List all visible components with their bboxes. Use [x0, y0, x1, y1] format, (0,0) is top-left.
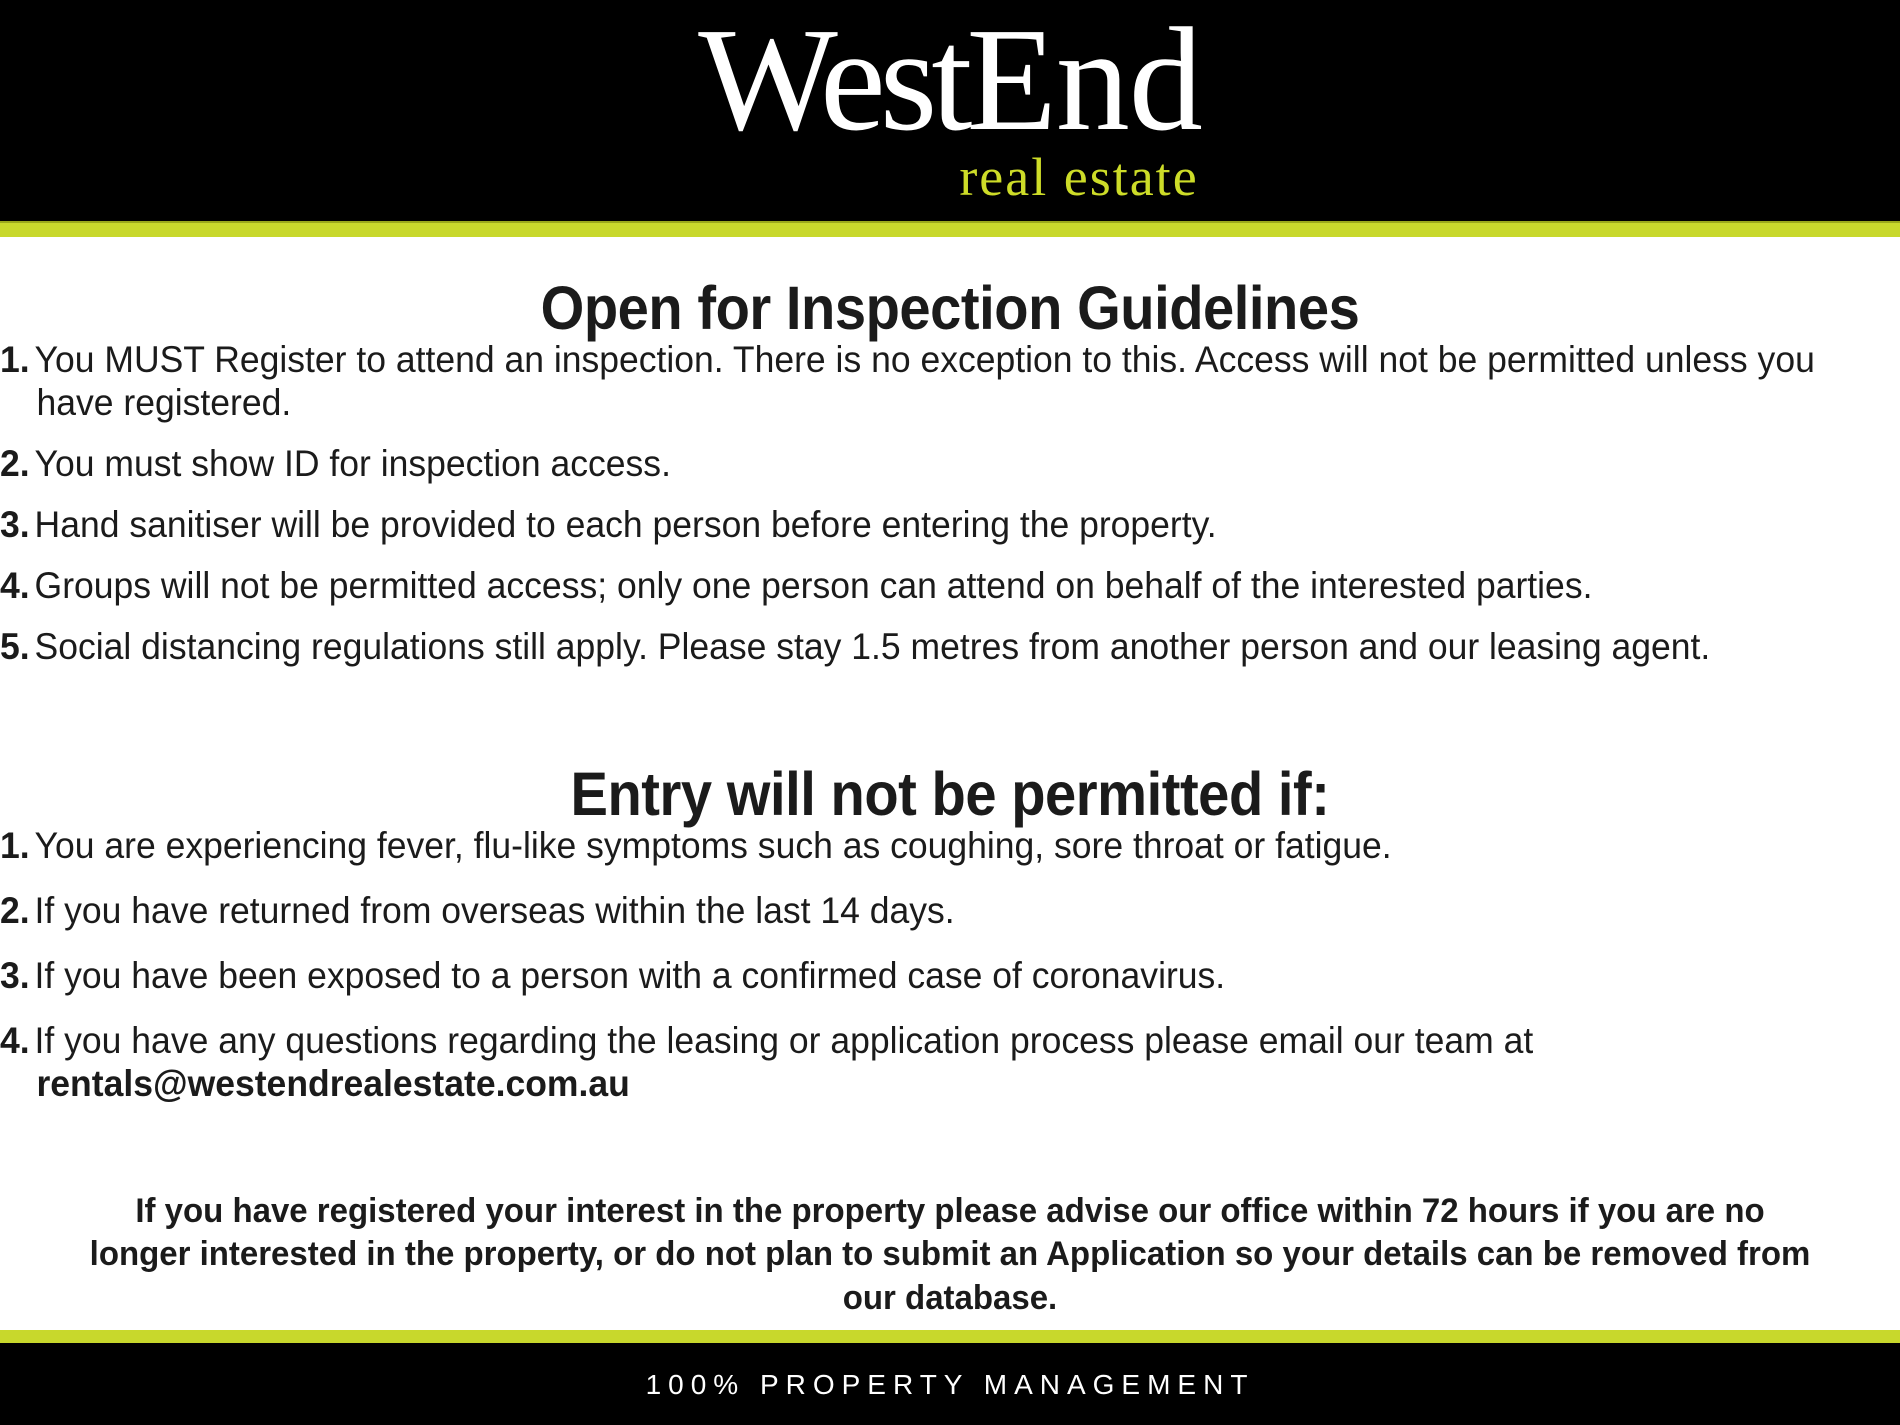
list-item: 3.Hand sanitiser will be provided to eac…: [0, 504, 1824, 547]
list-item-text: Social distancing regulations still appl…: [35, 626, 1711, 667]
list-item: 1.You MUST Register to attend an inspect…: [0, 339, 1824, 425]
logo-wordmark: WestEnd: [0, 6, 1900, 154]
list-item-number: 4.: [0, 565, 27, 608]
list-item: 3.If you have been exposed to a person w…: [0, 955, 1824, 998]
list-item: 1.You are experiencing fever, flu-like s…: [0, 825, 1824, 868]
list-item-number: 5.: [0, 626, 27, 669]
list-item: 4.If you have any questions regarding th…: [0, 1020, 1824, 1106]
list-item-number: 3.: [0, 955, 27, 998]
contact-email[interactable]: rentals@westendrealestate.com.au: [36, 1063, 629, 1104]
list-item-text: You MUST Register to attend an inspectio…: [35, 339, 1815, 423]
logo-word-end: End: [966, 0, 1201, 162]
list-item-number: 1.: [0, 339, 27, 382]
logo-tagline: real estate: [0, 150, 1900, 204]
poster-page: WestEnd real estate Open for Inspection …: [0, 0, 1900, 1425]
header-band: WestEnd real estate: [0, 0, 1900, 221]
page-title-entry: Entry will not be permitted if:: [76, 764, 1824, 825]
list-item-number: 1.: [0, 825, 27, 868]
list-item-number: 3.: [0, 504, 27, 547]
closing-note-wrap: If you have registered your interest in …: [0, 1190, 1900, 1321]
brand-logo: WestEnd real estate: [0, 0, 1900, 221]
list-item: 5.Social distancing regulations still ap…: [0, 626, 1824, 669]
page-title-guidelines: Open for Inspection Guidelines: [76, 235, 1824, 339]
entry-restrictions-list: 1.You are experiencing fever, flu-like s…: [0, 825, 1900, 1106]
main-content: Open for Inspection Guidelines 1.You MUS…: [0, 235, 1900, 1321]
list-item-number: 2.: [0, 443, 27, 486]
footer-tagline: 100% PROPERTY MANAGEMENT: [0, 1369, 1900, 1401]
list-item-number: 2.: [0, 890, 27, 933]
list-item: 4.Groups will not be permitted access; o…: [0, 565, 1824, 608]
list-item-text: If you have been exposed to a person wit…: [35, 955, 1226, 996]
list-item: 2.You must show ID for inspection access…: [0, 443, 1824, 486]
list-item-text: Groups will not be permitted access; onl…: [35, 565, 1593, 606]
list-item-number: 4.: [0, 1020, 27, 1063]
list-item-text: You are experiencing fever, flu-like sym…: [35, 825, 1392, 866]
list-item-text: If you have any questions regarding the …: [35, 1020, 1534, 1061]
section-spacer: [0, 686, 1900, 764]
list-item-text: You must show ID for inspection access.: [35, 443, 671, 484]
guidelines-list: 1.You MUST Register to attend an inspect…: [0, 339, 1900, 668]
closing-note: If you have registered your interest in …: [29, 1190, 1872, 1321]
footer-band: 100% PROPERTY MANAGEMENT: [0, 1343, 1900, 1425]
list-item-text: Hand sanitiser will be provided to each …: [35, 504, 1217, 545]
list-item-text: If you have returned from overseas withi…: [35, 890, 955, 931]
logo-word-west: West: [698, 0, 966, 162]
list-item: 2.If you have returned from overseas wit…: [0, 890, 1824, 933]
